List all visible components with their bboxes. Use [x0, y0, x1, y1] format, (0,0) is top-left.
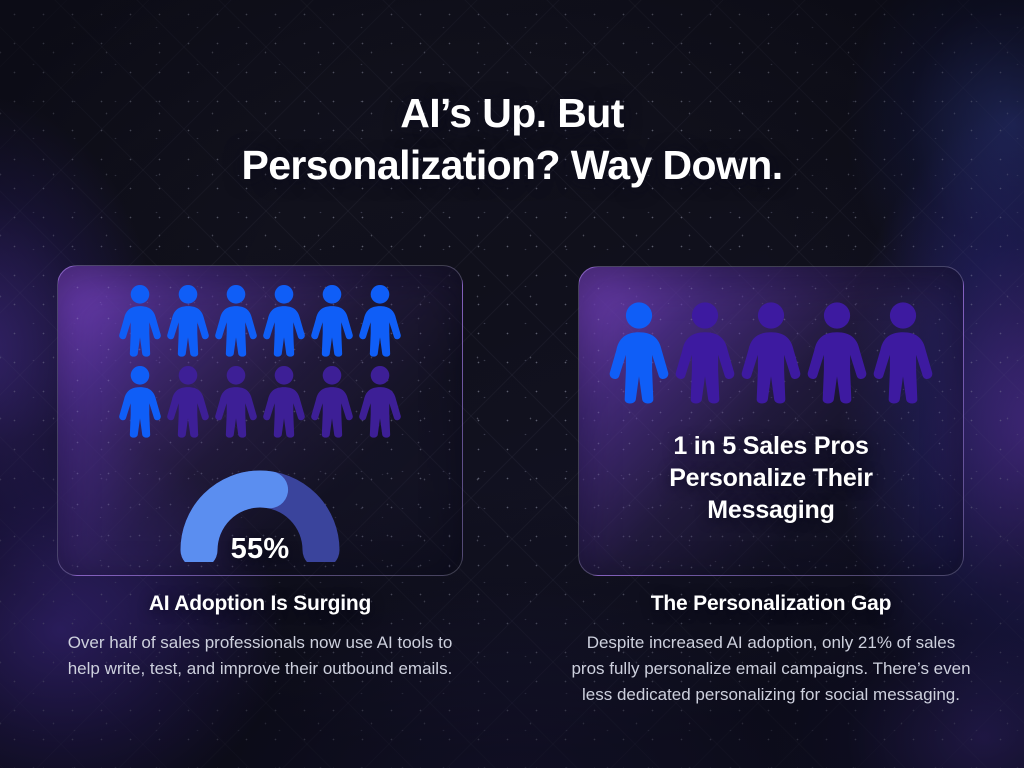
caption-body: Despite increased AI adoption, only 21% …: [570, 630, 972, 707]
semicircle-gauge-icon: 55%: [172, 458, 348, 562]
card-ai-adoption[interactable]: 55%: [57, 265, 463, 576]
person-icon-inactive: [740, 301, 802, 404]
person-icon-active: [214, 284, 258, 357]
person-icon-active: [118, 365, 162, 438]
gauge-container: 55%: [58, 458, 462, 562]
person-icon-active: [118, 284, 162, 357]
infographic-canvas: AI’s Up. But Personalization? Way Down. …: [0, 0, 1024, 768]
caption-body: Over half of sales professionals now use…: [57, 630, 463, 682]
person-icon-inactive: [214, 365, 258, 438]
caption-personalization-gap: The Personalization Gap Despite increase…: [570, 592, 972, 707]
person-icon-active: [310, 284, 354, 357]
person-icon-inactive: [310, 365, 354, 438]
page-title-line-1: AI’s Up. But: [400, 90, 624, 136]
page-title-line-2: Personalization? Way Down.: [0, 140, 1024, 192]
caption-ai-adoption: AI Adoption Is Surging Over half of sale…: [57, 592, 463, 682]
caption-title: AI Adoption Is Surging: [57, 592, 463, 616]
person-icon-inactive: [806, 301, 868, 404]
person-icon-active: [358, 284, 402, 357]
people-row-2: [58, 365, 462, 438]
page-title: AI’s Up. But Personalization? Way Down.: [0, 88, 1024, 191]
person-icon-active: [166, 284, 210, 357]
people-row-1: [58, 284, 462, 357]
caption-title: The Personalization Gap: [570, 592, 972, 616]
person-icon-active: [262, 284, 306, 357]
person-icon-inactive: [166, 365, 210, 438]
person-icon-active: [608, 301, 670, 404]
card-headline: 1 in 5 Sales Pros Personalize Their Mess…: [607, 430, 935, 526]
person-icon-inactive: [262, 365, 306, 438]
person-icon-inactive: [674, 301, 736, 404]
gauge-value-label: 55%: [172, 533, 348, 566]
person-icon-inactive: [872, 301, 934, 404]
people-pictogram-left: [58, 284, 462, 438]
people-pictogram-right: [579, 301, 963, 404]
card-personalization-gap[interactable]: 1 in 5 Sales Pros Personalize Their Mess…: [578, 266, 964, 576]
person-icon-inactive: [358, 365, 402, 438]
